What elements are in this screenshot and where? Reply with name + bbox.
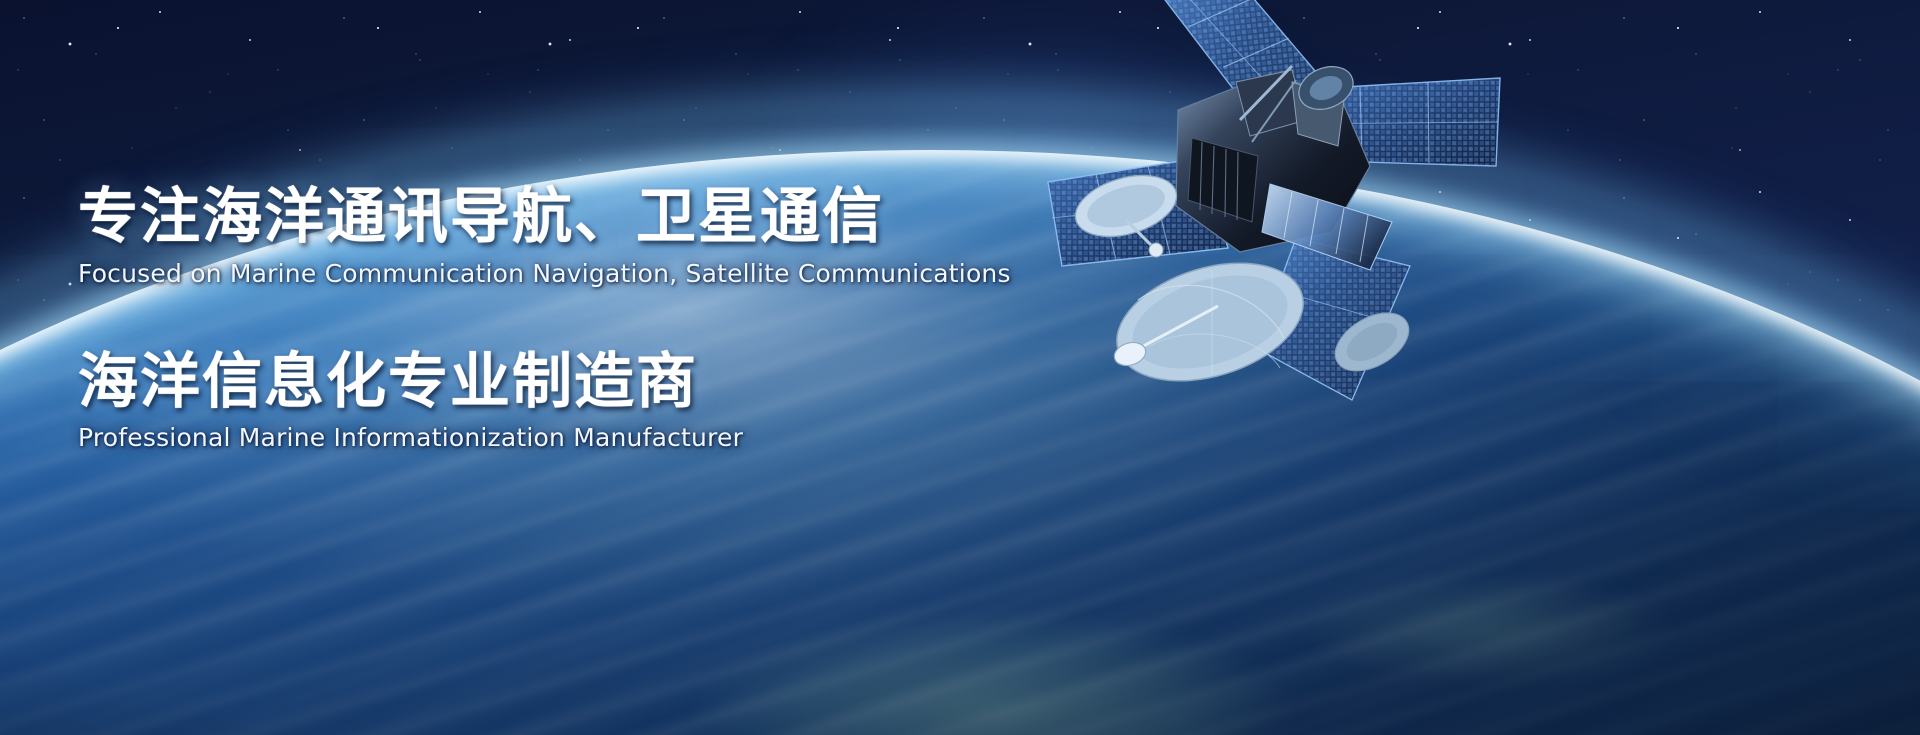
headline-secondary-en: Professional Marine Informationization M… (78, 423, 1178, 453)
headline-block-1: 专注海洋通讯导航、卫星通信 Focused on Marine Communic… (78, 186, 1178, 289)
headline-primary-en: Focused on Marine Communication Navigati… (78, 259, 1178, 289)
headline-primary-cn: 专注海洋通讯导航、卫星通信 (78, 186, 1178, 250)
headline-block-2: 海洋信息化专业制造商 Professional Marine Informati… (78, 351, 1178, 454)
hero-banner: 专注海洋通讯导航、卫星通信 Focused on Marine Communic… (0, 0, 1920, 735)
headline-copy: 专注海洋通讯导航、卫星通信 Focused on Marine Communic… (78, 186, 1178, 453)
headline-secondary-cn: 海洋信息化专业制造商 (78, 351, 1178, 415)
